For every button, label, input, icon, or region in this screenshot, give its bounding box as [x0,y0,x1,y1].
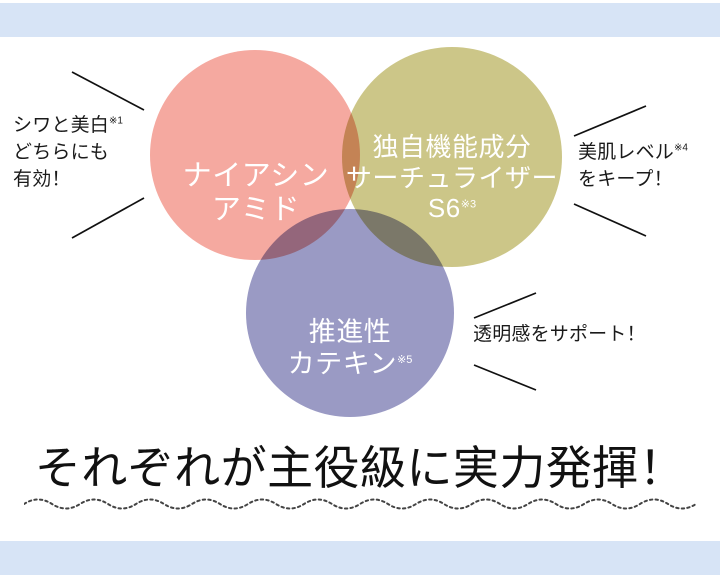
note-left: シワと美白※1 どちらにも 有効！ [13,113,123,194]
wavy-underline-path [24,500,696,509]
note-right-line-2: をキープ！ [578,167,688,194]
bottom-accent-band [0,541,720,575]
note-right-line-1: 美肌レベル※4 [578,140,688,167]
note-left-line-1-text: シワと美白 [13,115,109,136]
note-bottom-line-1: 透明感をサポート！ [473,322,646,349]
infographic-canvas: ナイアシン アミド 独自機能成分 サーチュライザー S6※3 推進性 カテキン※… [0,0,720,575]
footnote-mark-4: ※4 [674,143,688,154]
note-left-line-1: シワと美白※1 [13,113,123,140]
footnote-mark-1: ※1 [109,116,123,127]
venn-diagram: ナイアシン アミド 独自機能成分 サーチュライザー S6※3 推進性 カテキン※… [0,37,720,427]
note-right-line-1-text: 美肌レベル [578,142,674,163]
note-left-line-2: どちらにも [13,140,123,167]
top-accent-band [0,3,720,37]
headline-text: それぞれが主役級に実力発揮！ [0,432,720,498]
note-left-line-3: 有効！ [13,167,123,194]
purple-circle [246,209,454,417]
note-bottom: 透明感をサポート！ [473,322,646,349]
wavy-underline [24,494,696,510]
note-right: 美肌レベル※4 をキープ！ [578,140,688,194]
